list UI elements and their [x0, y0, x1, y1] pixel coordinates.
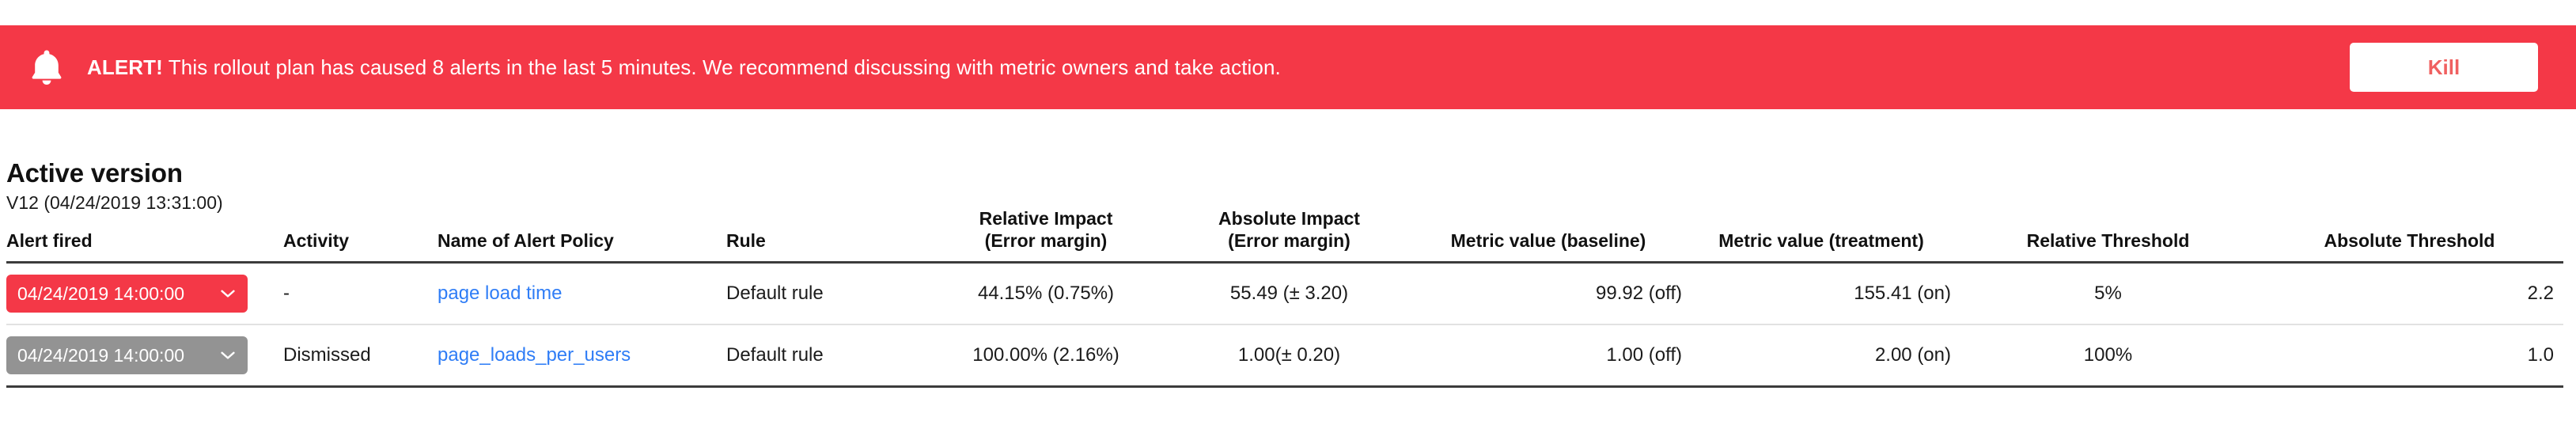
column-header-metric-value-treatment[interactable]: Metric value (treatment) [1691, 207, 1960, 263]
column-header-absolute-threshold[interactable]: Absolute Threshold [2265, 207, 2563, 263]
alert-message: ALERT! This rollout plan has caused 8 al… [87, 55, 1281, 80]
cell-absolute-impact: 55.49 (± 3.20) [1173, 263, 1415, 325]
cell-metric-value-treatment: 155.41 (on) [1691, 263, 1960, 325]
alert-fired-badge-label: 04/24/2019 14:00:00 [17, 275, 184, 313]
column-header-absolute-impact[interactable]: Absolute Impact (Error margin) [1173, 207, 1415, 263]
alert-message-prefix: ALERT! [87, 55, 163, 79]
column-header-relative-impact[interactable]: Relative Impact (Error margin) [928, 207, 1173, 263]
column-header-policy[interactable]: Name of Alert Policy [438, 207, 726, 263]
table-row: 04/24/2019 14:00:00 - page load time Def… [6, 263, 2563, 325]
version-block: Active version V12 (04/24/2019 13:31:00) [6, 158, 223, 214]
cell-metric-value-baseline: 99.92 (off) [1415, 263, 1691, 325]
cell-relative-impact: 44.15% (0.75%) [928, 263, 1173, 325]
cell-absolute-threshold: 1.0 [2265, 324, 2563, 387]
chevron-down-icon [221, 351, 235, 360]
kill-button[interactable]: Kill [2350, 43, 2538, 92]
table-body: 04/24/2019 14:00:00 - page load time Def… [6, 263, 2563, 387]
cell-absolute-threshold: 2.2 [2265, 263, 2563, 325]
column-header-alert-fired[interactable]: Alert fired [6, 207, 283, 263]
table-row: 04/24/2019 14:00:00 Dismissed page_loads… [6, 324, 2563, 387]
cell-relative-threshold: 100% [1960, 324, 2265, 387]
cell-metric-value-baseline: 1.00 (off) [1415, 324, 1691, 387]
cell-policy: page_loads_per_users [438, 324, 726, 387]
alert-fired-badge[interactable]: 04/24/2019 14:00:00 [6, 275, 248, 313]
cell-rule: Default rule [726, 324, 928, 387]
alert-fired-badge-label: 04/24/2019 14:00:00 [17, 336, 184, 374]
column-header-relative-impact-line2: (Error margin) [928, 229, 1164, 252]
cell-relative-threshold: 5% [1960, 263, 2265, 325]
column-header-absolute-impact-line1: Absolute Impact [1218, 208, 1360, 229]
alert-message-body: This rollout plan has caused 8 alerts in… [163, 55, 1281, 79]
chevron-down-icon [221, 290, 235, 298]
table-header: Alert fired Activity Name of Alert Polic… [6, 207, 2563, 263]
cell-alert-fired: 04/24/2019 14:00:00 [6, 263, 283, 325]
alert-banner: ALERT! This rollout plan has caused 8 al… [0, 25, 2576, 109]
cell-activity: - [283, 263, 438, 325]
column-header-rule[interactable]: Rule [726, 207, 928, 263]
column-header-relative-threshold[interactable]: Relative Threshold [1960, 207, 2265, 263]
column-header-relative-impact-line1: Relative Impact [979, 208, 1113, 229]
page-title: Active version [6, 158, 223, 188]
cell-alert-fired: 04/24/2019 14:00:00 [6, 324, 283, 387]
cell-rule: Default rule [726, 263, 928, 325]
column-header-metric-value-baseline[interactable]: Metric value (baseline) [1415, 207, 1691, 263]
cell-activity: Dismissed [283, 324, 438, 387]
policy-link[interactable]: page load time [438, 283, 562, 304]
alert-fired-badge[interactable]: 04/24/2019 14:00:00 [6, 336, 248, 374]
bell-icon [30, 49, 63, 85]
policy-link[interactable]: page_loads_per_users [438, 344, 631, 366]
cell-policy: page load time [438, 263, 726, 325]
cell-absolute-impact: 1.00(± 0.20) [1173, 324, 1415, 387]
cell-relative-impact: 100.00% (2.16%) [928, 324, 1173, 387]
cell-metric-value-treatment: 2.00 (on) [1691, 324, 1960, 387]
column-header-absolute-impact-line2: (Error margin) [1173, 229, 1405, 252]
alerts-table: Alert fired Activity Name of Alert Polic… [6, 207, 2563, 388]
table-header-row: Alert fired Activity Name of Alert Polic… [6, 207, 2563, 263]
column-header-activity[interactable]: Activity [283, 207, 438, 263]
